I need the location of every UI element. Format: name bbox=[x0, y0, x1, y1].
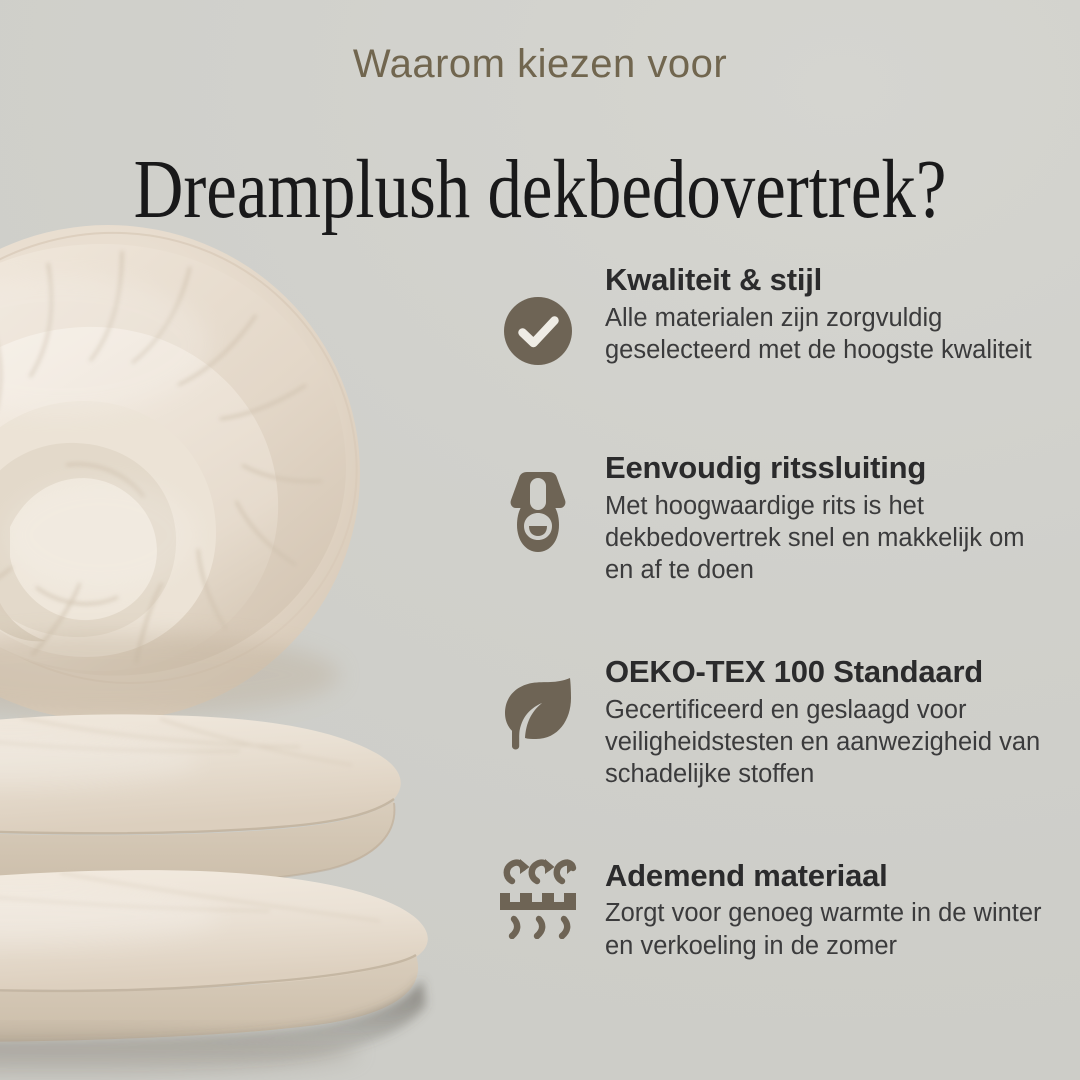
feature-description: Met hoogwaardige rits is het dekbedovert… bbox=[605, 490, 1055, 586]
leaf-icon bbox=[497, 670, 579, 752]
feature-list: Kwaliteit & stijl Alle materialen zijn z… bbox=[497, 262, 1057, 962]
feature-description: Zorgt voor genoeg warmte in de winter en… bbox=[605, 897, 1045, 961]
feature-description: Alle materialen zijn zorgvuldig geselect… bbox=[605, 302, 1035, 366]
feature-title: Kwaliteit & stijl bbox=[605, 262, 1057, 299]
feature-item-oeko-tex: OEKO-TEX 100 Standaard Gecertificeerd en… bbox=[497, 654, 1057, 790]
pillow-top bbox=[0, 714, 401, 891]
feature-description: Gecertificeerd en geslaagd voor veilighe… bbox=[605, 694, 1057, 790]
page-title: Dreamplush dekbedovertrek? bbox=[97, 148, 983, 232]
feature-title: OEKO-TEX 100 Standaard bbox=[605, 654, 1057, 691]
feature-item-ademend-materiaal: Ademend materiaal Zorgt voor genoeg warm… bbox=[497, 858, 1057, 962]
feature-item-kwaliteit-stijl: Kwaliteit & stijl Alle materialen zijn z… bbox=[497, 262, 1057, 382]
feature-title: Ademend materiaal bbox=[605, 858, 1057, 895]
promo-banner: Waarom kiezen voor Dreamplush dekbedover… bbox=[0, 0, 1080, 1080]
breathable-icon bbox=[497, 856, 579, 938]
check-circle-icon bbox=[497, 290, 579, 372]
rolled-duvet bbox=[0, 225, 360, 721]
product-image bbox=[0, 205, 500, 1080]
feature-item-ritssluiting: Eenvoudig ritssluiting Met hoogwaardige … bbox=[497, 450, 1057, 586]
zipper-icon bbox=[497, 472, 579, 554]
feature-title: Eenvoudig ritssluiting bbox=[605, 450, 1057, 487]
eyebrow-text: Waarom kiezen voor bbox=[0, 42, 1080, 87]
pillow-bottom bbox=[0, 870, 428, 1075]
